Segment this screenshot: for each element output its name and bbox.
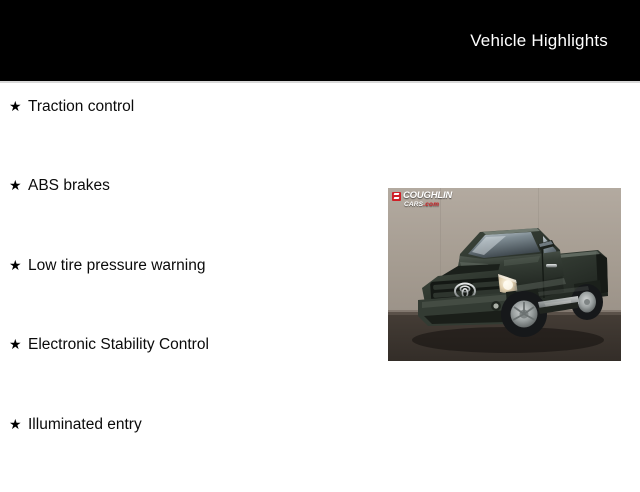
highlight-label: Electronic Stability Control <box>28 333 380 356</box>
star-bullet-icon: ★ <box>9 254 28 277</box>
star-bullet-icon: ★ <box>9 333 28 356</box>
highlight-label: Low tire pressure warning <box>28 254 380 277</box>
page-title: Vehicle Highlights <box>470 30 608 51</box>
list-item: ★ Low tire pressure warning <box>0 254 380 333</box>
highlight-label: ABS brakes <box>28 174 380 197</box>
star-bullet-icon: ★ <box>9 413 28 436</box>
highlight-label: Traction control <box>28 95 380 118</box>
star-bullet-icon: ★ <box>9 95 28 118</box>
vehicle-photo: COUGHLIN CARS.com <box>388 188 621 361</box>
highlight-label: Illuminated entry <box>28 413 380 436</box>
list-item: ★ Traction control <box>0 95 380 174</box>
list-item: ★ ABS brakes <box>0 174 380 253</box>
page-header: Vehicle Highlights <box>0 0 640 81</box>
list-item: ★ Illuminated entry <box>0 413 380 492</box>
header-divider <box>0 81 640 83</box>
star-bullet-icon: ★ <box>9 174 28 197</box>
vehicle-photo-graphic <box>388 188 621 361</box>
vehicle-highlights-list: ★ Traction control ★ ABS brakes ★ Low ti… <box>0 95 380 492</box>
list-item: ★ Electronic Stability Control <box>0 333 380 412</box>
